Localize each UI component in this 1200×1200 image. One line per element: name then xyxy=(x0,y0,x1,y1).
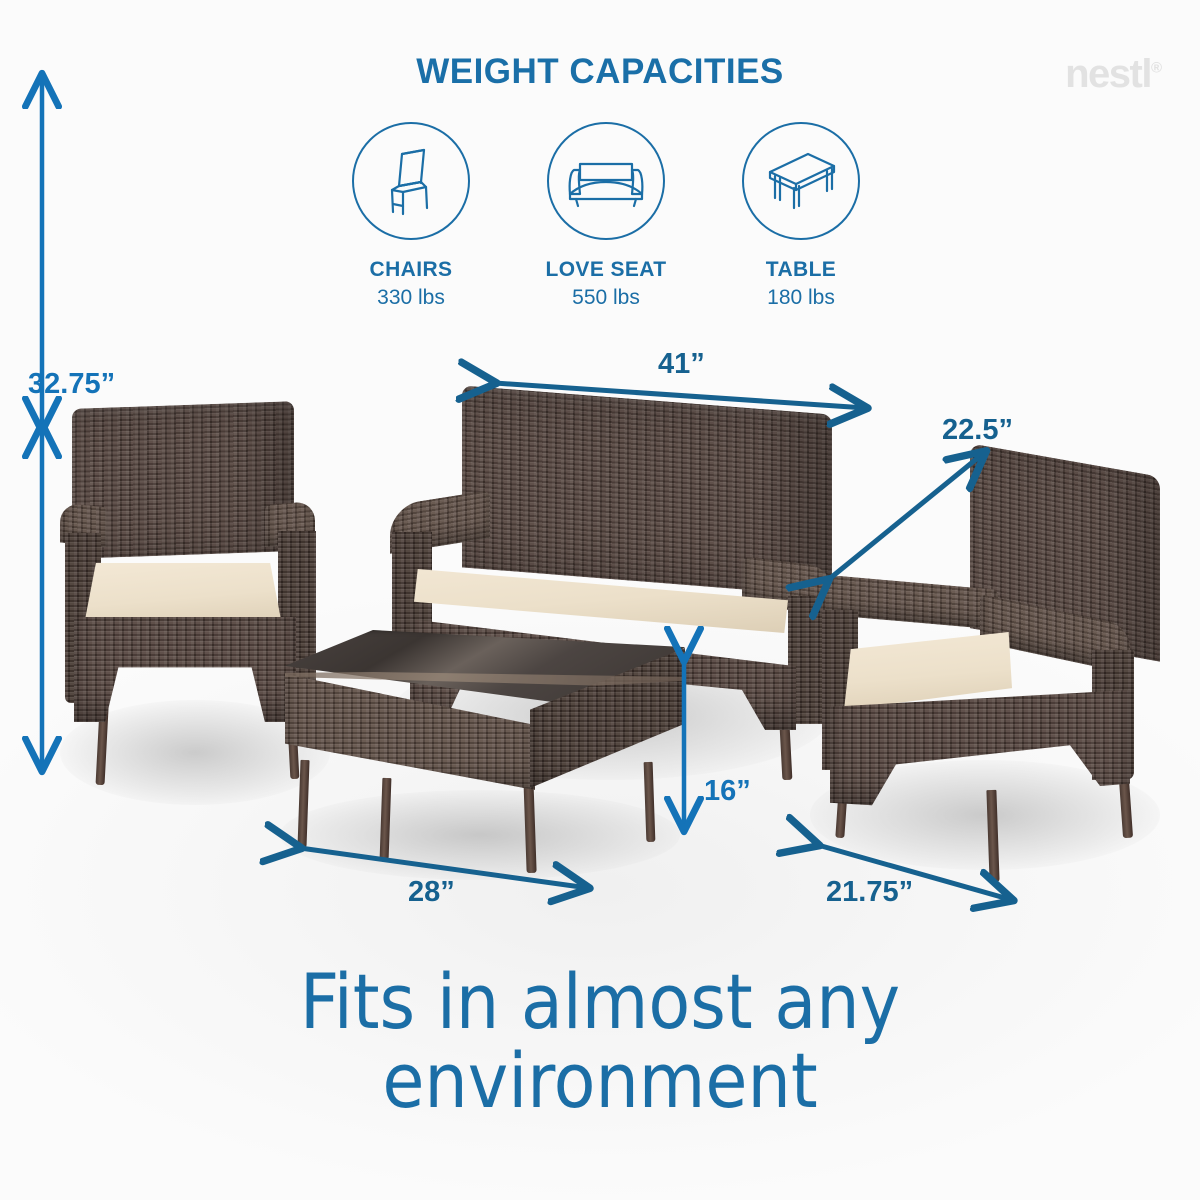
chair-icon xyxy=(377,146,445,216)
table-leg xyxy=(644,762,656,842)
dimension-label-chair-depth: 22.5” xyxy=(942,414,1013,447)
headline-line-2: environment xyxy=(0,1041,1200,1120)
capacity-label: LOVE SEAT xyxy=(531,258,681,282)
dimension-label-chair-height: 32.75” xyxy=(28,368,115,401)
brand-logo-text: nestl xyxy=(1065,52,1151,96)
infographic-canvas: WEIGHT CAPACITIES nestl® xyxy=(0,0,1200,1200)
brand-logo: nestl® xyxy=(1065,52,1162,97)
capacity-item-table: TABLE 180 lbs xyxy=(726,122,876,310)
capacity-item-chairs: CHAIRS 330 lbs xyxy=(336,122,486,310)
weight-capacity-list: CHAIRS 330 lbs LOVE SEAT 5 xyxy=(336,122,876,310)
loveseat-icon-circle xyxy=(547,122,665,240)
armchair-right xyxy=(820,460,1170,850)
chair-leg xyxy=(986,790,999,882)
dimension-label-table-height: 16” xyxy=(704,775,751,808)
dimension-label-loveseat-width: 41” xyxy=(658,348,705,381)
capacity-value: 180 lbs xyxy=(726,286,876,310)
dimension-label-table-width: 28” xyxy=(408,876,455,909)
chair-icon-circle xyxy=(352,122,470,240)
chair-seat-cushion xyxy=(84,563,282,625)
table-leg xyxy=(523,778,536,873)
table-icon xyxy=(764,150,838,212)
page-title: WEIGHT CAPACITIES xyxy=(0,52,1200,92)
headline-line-1: Fits in almost any xyxy=(0,962,1200,1041)
capacity-item-love-seat: LOVE SEAT 550 lbs xyxy=(531,122,681,310)
registered-trademark-icon: ® xyxy=(1151,60,1162,77)
capacity-label: CHAIRS xyxy=(336,258,486,282)
capacity-value: 550 lbs xyxy=(531,286,681,310)
headline: Fits in almost any environment xyxy=(0,962,1200,1120)
loveseat-icon xyxy=(566,152,646,210)
capacity-value: 330 lbs xyxy=(336,286,486,310)
dimension-label-chair-width: 21.75” xyxy=(826,876,913,909)
chair-front-skirt xyxy=(830,690,1130,810)
capacity-label: TABLE xyxy=(726,258,876,282)
table-icon-circle xyxy=(742,122,860,240)
table-leg xyxy=(380,778,392,860)
coffee-table xyxy=(285,630,685,860)
chair-front-skirt xyxy=(74,617,296,722)
table-leg xyxy=(297,760,309,848)
